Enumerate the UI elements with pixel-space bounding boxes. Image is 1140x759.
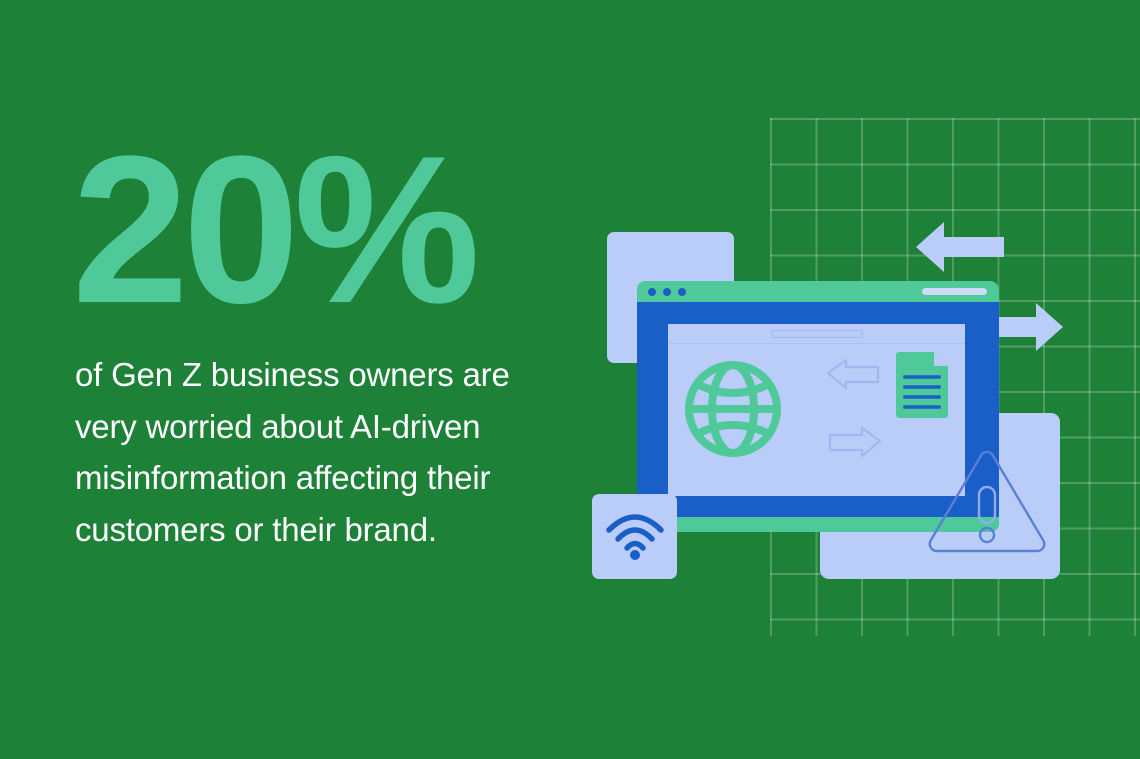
- stat-value: 20%: [72, 132, 572, 327]
- wifi-icon: [606, 510, 664, 562]
- globe-icon: [684, 360, 782, 463]
- infographic-canvas: 20% of Gen Z business owners are very wo…: [0, 0, 1140, 759]
- document-icon: [896, 352, 948, 423]
- arrow-right-icon: [997, 302, 1063, 357]
- warning-triangle-icon: [927, 447, 1047, 562]
- stat-description: of Gen Z business owners are very worrie…: [75, 349, 515, 555]
- inner-arrow-group: [826, 356, 882, 465]
- wifi-card: [592, 494, 677, 579]
- address-bar-input[interactable]: [771, 330, 862, 338]
- browser-viewport: [668, 324, 965, 496]
- text-block: 20% of Gen Z business owners are very wo…: [72, 132, 572, 555]
- title-bar-pill: [922, 288, 987, 295]
- window-dot-icon: [648, 288, 656, 296]
- address-bar[interactable]: [668, 324, 965, 344]
- arrow-left-icon: [916, 221, 1004, 278]
- window-dot-icon: [663, 288, 671, 296]
- arrow-right-outline-icon: [830, 428, 880, 456]
- browser-title-bar: [637, 281, 999, 302]
- window-dot-icon: [678, 288, 686, 296]
- arrow-left-outline-icon: [828, 360, 878, 388]
